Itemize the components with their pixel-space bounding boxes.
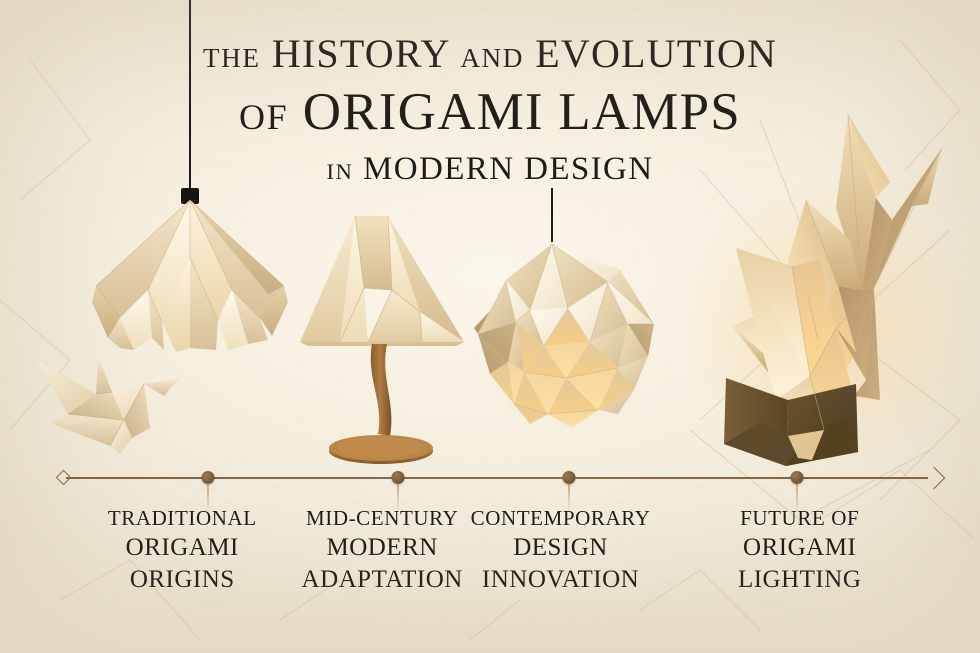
timeline-labels: TRADITIONAL ORIGAMI ORIGINS MID-CENTURY … [0, 505, 980, 615]
stage-label-future[interactable]: FUTURE OF ORIGAMI LIGHTING [738, 505, 861, 597]
title-and: AND [460, 43, 524, 73]
midcentury-table-lamp [292, 212, 472, 474]
stage-future-line1: FUTURE OF [738, 505, 861, 532]
geodesic-facets [468, 238, 664, 434]
stage-label-contemporary[interactable]: CONTEMPORARY DESIGN INNOVATION [471, 505, 651, 597]
pendant-cord [189, 0, 191, 192]
pendant-shade [90, 198, 290, 363]
title-history: HISTORY [272, 31, 449, 76]
stage-contemporary-line3: INNOVATION [471, 564, 651, 597]
futuristic-angular-origami-lamp [660, 100, 980, 475]
stage-traditional-line2: ORIGAMI [108, 532, 257, 565]
origami-pendant-lamp [90, 0, 290, 370]
lamp-stem [371, 344, 392, 436]
stage-contemporary-line2: DESIGN [471, 532, 651, 565]
geodesic-sphere-pendant-lamp [468, 188, 664, 434]
infographic-canvas: THE HISTORY AND EVOLUTION OF ORIGAMI LAM… [0, 0, 980, 653]
stage-traditional-line1: TRADITIONAL [108, 505, 257, 532]
title-in: IN [327, 159, 354, 184]
stage-contemporary-line1: CONTEMPORARY [471, 505, 651, 532]
stage-label-midcentury[interactable]: MID-CENTURY MODERN ADAPTATION [302, 505, 463, 597]
geodesic-cord [551, 188, 553, 242]
stage-traditional-line3: ORIGINS [108, 564, 257, 597]
stage-midcentury-line2: MODERN [302, 532, 463, 565]
title-evolution: EVOLUTION [535, 31, 777, 76]
stage-midcentury-line3: ADAPTATION [302, 564, 463, 597]
title-modern-design: MODERN DESIGN [363, 151, 653, 187]
stage-label-traditional[interactable]: TRADITIONAL ORIGAMI ORIGINS [108, 505, 257, 597]
stage-future-line3: LIGHTING [738, 564, 861, 597]
futuristic-lamp-facets [660, 100, 980, 475]
stage-future-line2: ORIGAMI [738, 532, 861, 565]
timeline-axis [58, 477, 940, 479]
stage-midcentury-line1: MID-CENTURY [302, 505, 463, 532]
